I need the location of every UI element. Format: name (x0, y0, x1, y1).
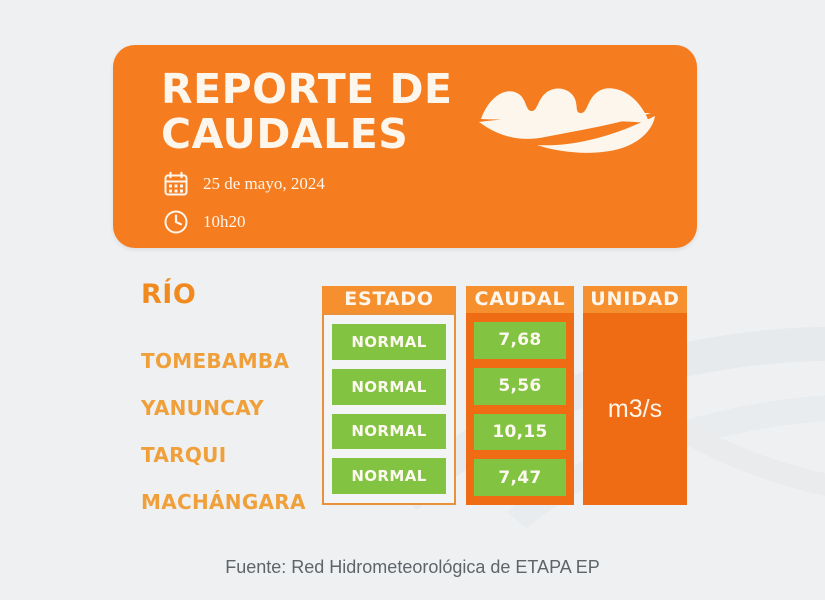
status-badge: NORMAL (332, 324, 446, 360)
source-footer: Fuente: Red Hidrometeorológica de ETAPA … (0, 557, 825, 578)
page-title: REPORTE DE CAUDALES (161, 67, 491, 157)
rio-name: TARQUI (141, 432, 316, 479)
report-time-text: 10h20 (203, 212, 246, 232)
column-header-unidad: UNIDAD (583, 286, 687, 313)
clock-icon (163, 209, 189, 235)
report-canvas: REPORTE DE CAUDALES 25 de mayo, 2024 (0, 0, 825, 600)
estado-chip-stack: NORMAL NORMAL NORMAL NORMAL (324, 315, 454, 503)
status-badge: NORMAL (332, 369, 446, 405)
report-header-card: REPORTE DE CAUDALES 25 de mayo, 2024 (113, 45, 697, 248)
unidad-value: m3/s (583, 313, 687, 505)
rio-name-list: TOMEBAMBA YANUNCAY TARQUI MACHÁNGARA (141, 338, 316, 526)
rio-column-heading: RÍO (141, 280, 316, 316)
status-badge: NORMAL (332, 414, 446, 450)
column-header-estado: ESTADO (322, 286, 456, 313)
rio-name: TOMEBAMBA (141, 338, 316, 385)
rio-name: YANUNCAY (141, 385, 316, 432)
caudal-value: 10,15 (474, 414, 566, 451)
water-wave-logo-icon (475, 67, 655, 167)
report-time-row: 10h20 (163, 209, 246, 235)
caudal-value: 5,56 (474, 368, 566, 405)
estado-column-body: NORMAL NORMAL NORMAL NORMAL (322, 313, 456, 505)
column-header-caudal: CAUDAL (466, 286, 574, 313)
status-badge: NORMAL (332, 458, 446, 494)
calendar-icon (163, 171, 189, 197)
report-date-row: 25 de mayo, 2024 (163, 171, 325, 197)
caudal-value: 7,47 (474, 459, 566, 496)
report-date-text: 25 de mayo, 2024 (203, 174, 325, 194)
rio-name: MACHÁNGARA (141, 479, 316, 526)
caudal-column-body: 7,68 5,56 10,15 7,47 (466, 313, 574, 505)
caudal-chip-stack: 7,68 5,56 10,15 7,47 (466, 313, 574, 505)
rio-column: RÍO TOMEBAMBA YANUNCAY TARQUI MACHÁNGARA (141, 280, 316, 526)
caudales-table: RÍO TOMEBAMBA YANUNCAY TARQUI MACHÁNGARA… (0, 280, 825, 530)
caudal-value: 7,68 (474, 322, 566, 359)
